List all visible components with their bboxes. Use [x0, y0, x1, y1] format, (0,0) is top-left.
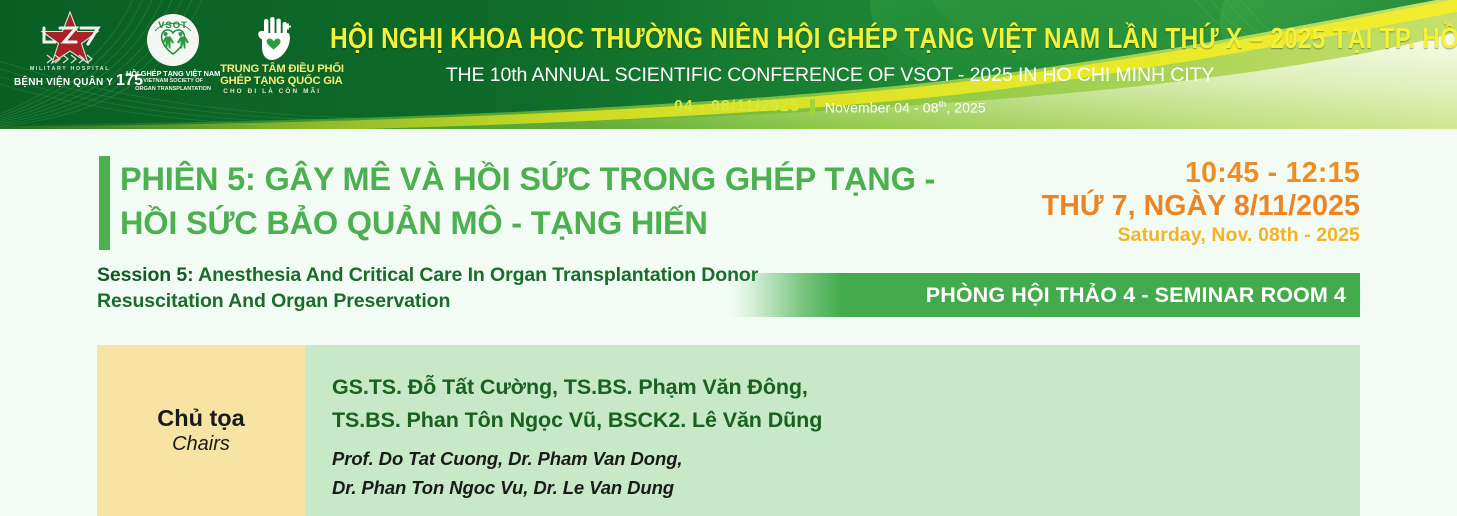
logo-center-caption-line2: GHÉP TẠNG QUỐC GIA — [220, 75, 324, 87]
session-date-vi: THỨ 7, NGÀY 8/11/2025 — [940, 190, 1360, 222]
conference-dates: 04 - 08/11/2025 November 04 - 08th, 2025 — [330, 98, 1330, 116]
conference-date-en-post: , 2025 — [946, 99, 986, 115]
chairs-names-en-line2: Dr. Phan Ton Ngoc Vu, Dr. Le Van Dung — [332, 474, 1360, 503]
session-title-en: Session 5: Anesthesia And Critical Care … — [97, 263, 797, 315]
star-175-icon — [14, 10, 126, 65]
conference-title-vi: HỘI NGHỊ KHOA HỌC THƯỜNG NIÊN HỘI GHÉP T… — [330, 23, 1330, 56]
vsot-emblem-icon: VSOT — [147, 14, 199, 66]
room-banner: PHÒNG HỘI THẢO 4 - SEMINAR ROOM 4 — [730, 273, 1360, 317]
session-title-en-rest: Anesthesia And Critical Care In Organ Tr… — [97, 264, 758, 312]
session-accent-bar — [99, 156, 110, 250]
chairs-label-vi: Chủ tọa — [157, 405, 244, 432]
session-title-vi-line1: PHIÊN 5: GÂY MÊ VÀ HỒI SỨC TRONG GHÉP TẠ… — [120, 158, 1020, 202]
logo-vsot-caption-vi: HỘI GHÉP TẠNG VIỆT NAM — [126, 69, 220, 78]
page-header: MILITARY HOSPITAL BỆNH VIỆN QUÂN Y 175 — [0, 0, 1457, 129]
logo-vsot-caption-en-1: VIETNAM SOCIETY OF — [126, 78, 220, 86]
chairs-names-vi: GS.TS. Đỗ Tất Cường, TS.BS. Phạm Văn Đôn… — [332, 371, 1360, 436]
chairs-label-en: Chairs — [172, 432, 230, 456]
chairs-label-panel: Chủ tọa Chairs — [97, 345, 305, 516]
chairs-names-vi-line1: GS.TS. Đỗ Tất Cường, TS.BS. Phạm Văn Đôn… — [332, 371, 1360, 404]
session-title-vi: PHIÊN 5: GÂY MÊ VÀ HỒI SỨC TRONG GHÉP TẠ… — [120, 158, 1020, 245]
logo-national-organ-coordination-center: TRUNG TÂM ĐIỀU PHỐI GHÉP TẠNG QUỐC GIA C… — [220, 10, 324, 95]
date-separator — [810, 99, 815, 116]
chairs-names-panel: GS.TS. Đỗ Tất Cường, TS.BS. Phạm Văn Đôn… — [305, 345, 1360, 516]
logo-175-caption-vi-text: BỆNH VIỆN QUÂN Y — [14, 77, 113, 88]
conference-date-en: November 04 - 08th, 2025 — [825, 99, 986, 116]
svg-text:VSOT: VSOT — [158, 20, 188, 31]
schedule-block: 10:45 - 12:15 THỨ 7, NGÀY 8/11/2025 Satu… — [940, 158, 1360, 248]
logo-strip: MILITARY HOSPITAL BỆNH VIỆN QUÂN Y 175 — [14, 10, 324, 110]
chairs-section: Chủ tọa Chairs GS.TS. Đỗ Tất Cường, TS.B… — [97, 345, 1360, 516]
logo-175-caption-vi: BỆNH VIỆN QUÂN Y 175 — [14, 72, 126, 90]
logo-vsot: VSOT HỘI GHÉP TẠNG VIỆT NAM VIETNAM SOCI… — [126, 10, 220, 93]
conference-date-vi: 04 - 08/11/2025 — [674, 98, 800, 116]
logo-military-hospital-175: MILITARY HOSPITAL BỆNH VIỆN QUÂN Y 175 — [14, 10, 126, 90]
header-text-block: HỘI NGHỊ KHOA HỌC THƯỜNG NIÊN HỘI GHÉP T… — [330, 0, 1330, 129]
session-date-en: Saturday, Nov. 08th - 2025 — [940, 224, 1360, 247]
conference-session-banner: MILITARY HOSPITAL BỆNH VIỆN QUÂN Y 175 — [0, 0, 1457, 516]
chairs-names-vi-line2: TS.BS. Phan Tôn Ngọc Vũ, BSCK2. Lê Văn D… — [332, 404, 1360, 437]
session-title-en-lead: Session 5: — [97, 264, 194, 286]
hand-heart-icon — [220, 16, 324, 63]
room-label: PHÒNG HỘI THẢO 4 - SEMINAR ROOM 4 — [926, 283, 1346, 308]
conference-date-en-pre: November 04 - 08 — [825, 99, 939, 115]
conference-title-en: THE 10th ANNUAL SCIENTIFIC CONFERENCE OF… — [330, 64, 1330, 87]
session-time: 10:45 - 12:15 — [940, 158, 1360, 190]
session-title-vi-line2: HỒI SỨC BẢO QUẢN MÔ - TẠNG HIẾN — [120, 202, 1020, 246]
logo-center-caption-line1: TRUNG TÂM ĐIỀU PHỐI — [220, 63, 324, 75]
chairs-names-en: Prof. Do Tat Cuong, Dr. Pham Van Dong, D… — [332, 445, 1360, 502]
logo-center-slogan: CHO ĐI LÀ CÒN MÃI — [220, 88, 324, 95]
logo-vsot-caption-en-2: ORGAN TRANSPLANTATION — [126, 86, 220, 94]
chairs-names-en-line1: Prof. Do Tat Cuong, Dr. Pham Van Dong, — [332, 445, 1360, 474]
